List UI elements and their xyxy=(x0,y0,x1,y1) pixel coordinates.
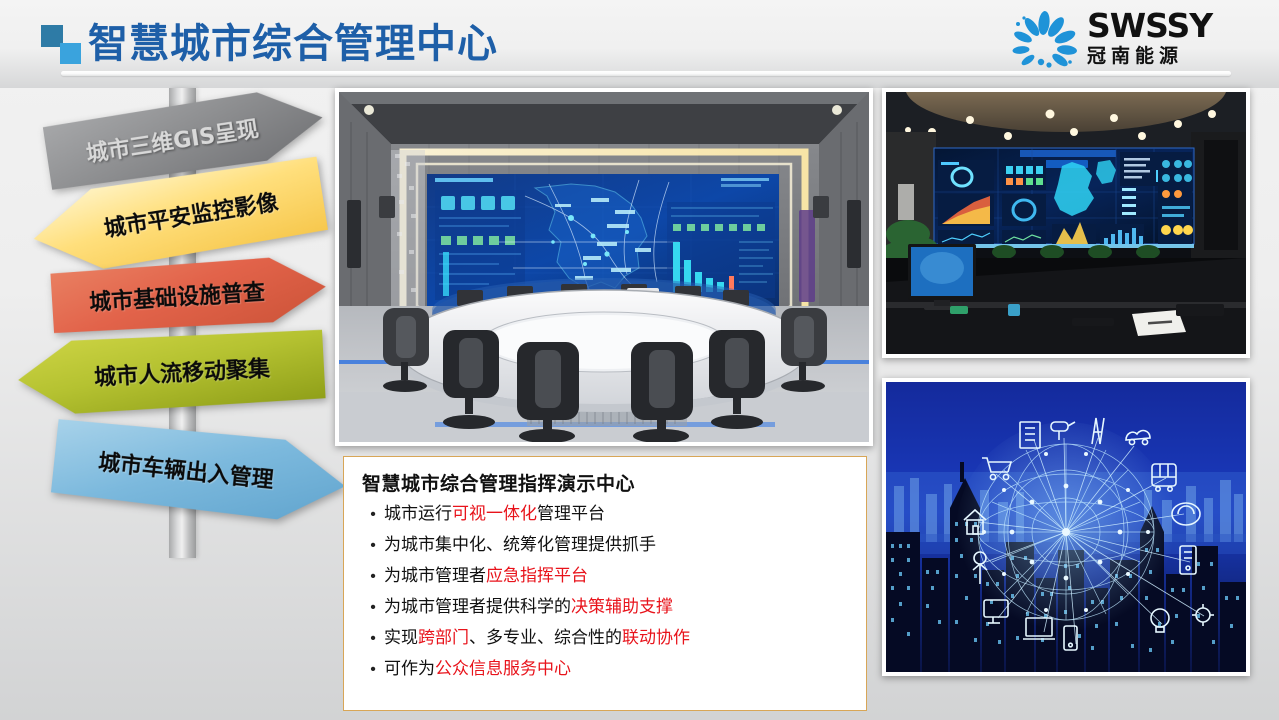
textbox-bullet-item: •为城市集中化、统筹化管理提供抓手 xyxy=(362,533,848,558)
textbox-bullet-item: •城市运行可视一体化管理平台 xyxy=(362,502,848,527)
plain-text: 为城市管理者 xyxy=(384,566,486,586)
plain-text: 城市运行 xyxy=(384,504,452,524)
textbox-title: 智慧城市综合管理指挥演示中心 xyxy=(362,469,848,496)
bullet-icon: • xyxy=(362,626,384,651)
plain-text: 可作为 xyxy=(384,659,435,679)
bullet-icon: • xyxy=(362,533,384,558)
photo-smart-city-iot xyxy=(882,378,1250,676)
textbox-bullet-item: •可作为公众信息服务中心 xyxy=(362,657,848,682)
slide-header: 智慧城市综合管理中心 SWSSY 冠南能源 xyxy=(0,0,1279,88)
signpost-banner-crowd-flow[interactable]: 城市人流移动聚集 xyxy=(16,326,326,418)
signpost-group: 城市三维GIS呈现 城市平安监控影像 城市基础设施普查 城市人流移动聚集 城市车… xyxy=(0,88,340,720)
highlight-text: 应急指挥平台 xyxy=(486,566,588,586)
plain-text: 实现 xyxy=(384,628,418,648)
textbox-bullet-list: •城市运行可视一体化管理平台•为城市集中化、统筹化管理提供抓手•为城市管理者应急… xyxy=(362,502,848,682)
header-square-light-icon xyxy=(60,43,81,64)
bullet-text: 为城市管理者提供科学的决策辅助支撑 xyxy=(384,595,673,620)
bullet-icon: • xyxy=(362,502,384,527)
command-center-illustration xyxy=(339,92,869,442)
signpost-banner-vehicle-access[interactable]: 城市车辆出入管理 xyxy=(51,416,350,526)
bullet-text: 实现跨部门、多专业、综合性的联动协作 xyxy=(384,626,690,651)
photo-command-center-main xyxy=(335,88,873,446)
company-logo: SWSSY 冠南能源 xyxy=(1011,6,1261,78)
textbox-bullet-item: •实现跨部门、多专业、综合性的联动协作 xyxy=(362,626,848,651)
bullet-icon: • xyxy=(362,657,384,682)
textbox-bullet-item: •为城市管理者提供科学的决策辅助支撑 xyxy=(362,595,848,620)
plain-text: 为城市管理者提供科学的 xyxy=(384,597,571,617)
description-textbox: 智慧城市综合管理指挥演示中心 •城市运行可视一体化管理平台•为城市集中化、统筹化… xyxy=(343,456,867,711)
water-drop-flower-logo-icon xyxy=(1011,10,1077,72)
logo-wordmark: SWSSY 冠南能源 xyxy=(1087,8,1212,68)
highlight-text: 决策辅助支撑 xyxy=(571,597,673,617)
highlight-text: 公众信息服务中心 xyxy=(435,659,571,679)
plain-text: 管理平台 xyxy=(537,504,605,524)
bullet-text: 可作为公众信息服务中心 xyxy=(384,657,571,682)
bullet-icon: • xyxy=(362,595,384,620)
highlight-text: 可视一体化 xyxy=(452,504,537,524)
bullet-text: 城市运行可视一体化管理平台 xyxy=(384,502,605,527)
smart-city-iot-illustration xyxy=(886,382,1246,672)
logo-chinese-text: 冠南能源 xyxy=(1087,44,1212,68)
photo-dispatch-center xyxy=(882,88,1250,358)
bullet-text: 为城市集中化、统筹化管理提供抓手 xyxy=(384,533,656,558)
page-title: 智慧城市综合管理中心 xyxy=(88,11,498,69)
plain-text: 为城市集中化、统筹化管理提供抓手 xyxy=(384,535,656,555)
dispatch-center-illustration xyxy=(886,92,1246,354)
textbox-bullet-item: •为城市管理者应急指挥平台 xyxy=(362,564,848,589)
plain-text: 、多专业、综合性的 xyxy=(469,628,622,648)
highlight-text: 跨部门 xyxy=(418,628,469,648)
bullet-text: 为城市管理者应急指挥平台 xyxy=(384,564,588,589)
bullet-icon: • xyxy=(362,564,384,589)
highlight-text: 联动协作 xyxy=(622,628,690,648)
logo-latin-text: SWSSY xyxy=(1087,8,1212,44)
